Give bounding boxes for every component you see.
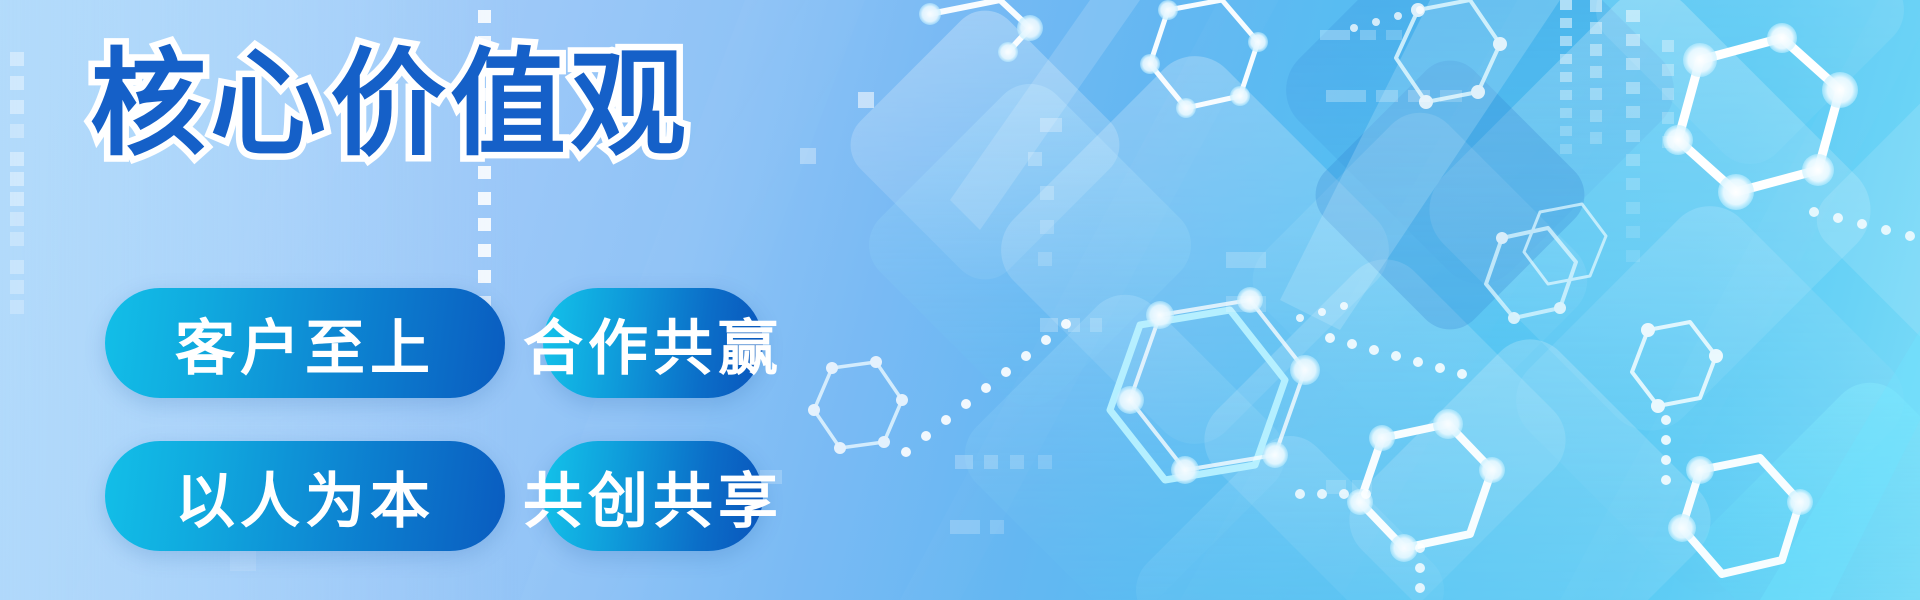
value-pill-win-win-cooperation[interactable]: 合作共赢 <box>543 288 763 398</box>
value-pill-customer-first[interactable]: 客户至上 <box>105 288 505 398</box>
banner-content: 核心价值观 客户至上 合作共赢 以人为本 共创共享 <box>0 0 880 600</box>
value-pill-people-oriented[interactable]: 以人为本 <box>105 441 505 551</box>
page-title: 核心价值观 <box>90 36 690 173</box>
value-pill-co-create-share[interactable]: 共创共享 <box>543 441 763 551</box>
core-values-list: 客户至上 合作共赢 以人为本 共创共享 <box>105 288 763 551</box>
core-values-banner: 核心价值观 客户至上 合作共赢 以人为本 共创共享 <box>0 0 1920 600</box>
